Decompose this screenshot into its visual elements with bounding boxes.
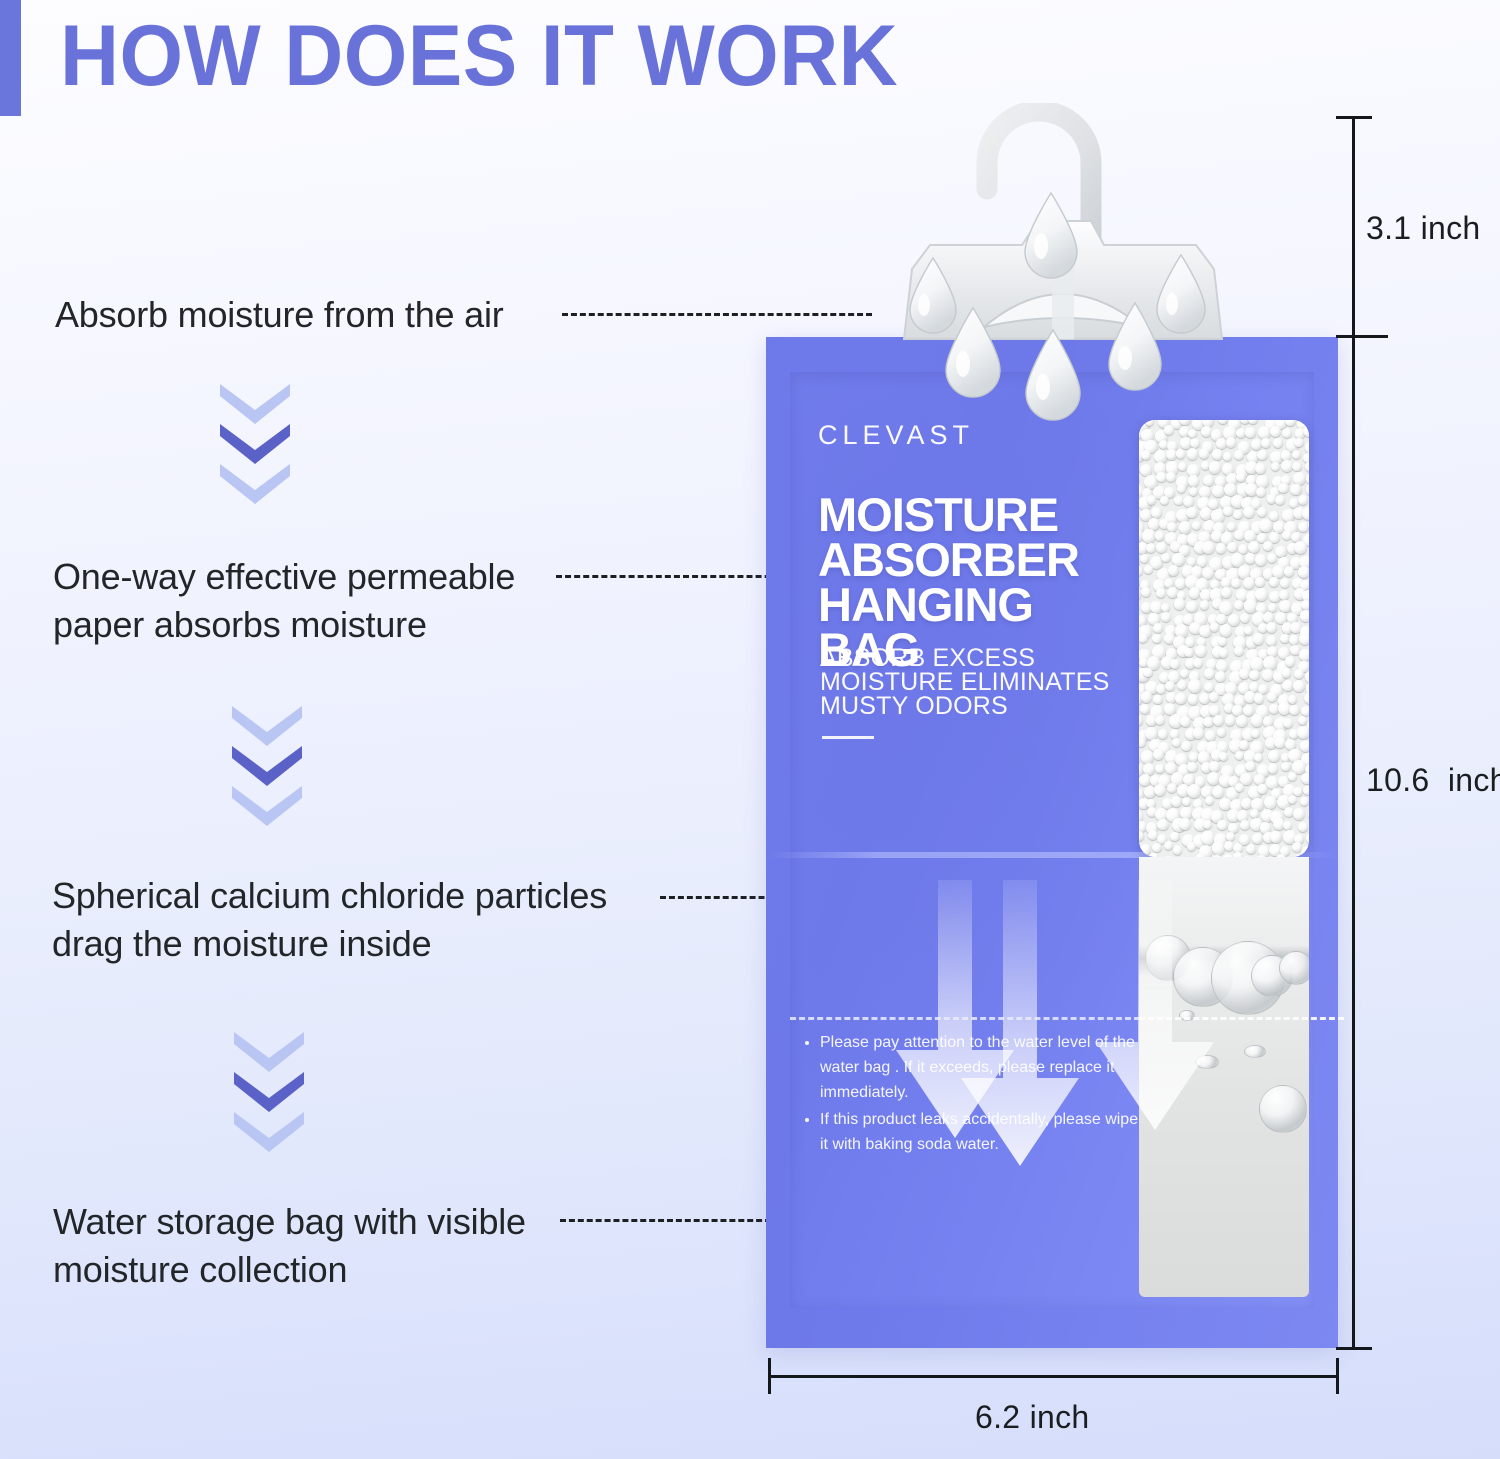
warning-bullet: Please pay attention to the water level … <box>820 1030 1140 1105</box>
chevron-group-1 <box>216 380 294 508</box>
package-divider-rule <box>822 736 874 739</box>
calcium-chloride-particles-window <box>1139 420 1309 857</box>
dimension-label-bag-height: 10.6 inch <box>1366 762 1500 799</box>
water-droplet-icon <box>940 305 1006 401</box>
dimension-label-bag-width: 6.2 inch <box>975 1399 1089 1436</box>
water-droplet-icon <box>1103 300 1167 394</box>
particle-beads <box>1139 420 1309 857</box>
chevron-down-icon <box>230 1108 308 1154</box>
dimension-tick-top <box>1336 116 1372 119</box>
dimension-label-hanger-height: 3.1 inch <box>1366 210 1480 247</box>
chevron-down-icon <box>216 460 294 506</box>
package-subhead: ABSORB EXCESS MOISTURE ELIMINATES MUSTY … <box>820 646 1120 718</box>
bubble <box>1244 1045 1266 1058</box>
bubble <box>1279 951 1309 985</box>
max-fill-line-left <box>790 1017 1140 1020</box>
dimension-line-bag-height <box>1352 338 1355 1350</box>
feature-label-absorb-air: Absorb moisture from the air <box>55 291 504 339</box>
package-warning-bullets: Please pay attention to the water level … <box>798 1030 1140 1159</box>
chevron-group-2 <box>228 702 306 830</box>
dimension-tick-bottom <box>1336 1347 1372 1350</box>
leader-line-absorb-air <box>562 313 872 316</box>
feature-label-water-bag: Water storage bag with visible moisture … <box>53 1198 526 1294</box>
chevron-group-3 <box>230 1028 308 1156</box>
dimension-line-hanger-height <box>1352 116 1355 338</box>
warning-bullet: If this product leaks accidentally, plea… <box>820 1107 1140 1157</box>
page-title: HOW DOES IT WORK <box>60 8 898 104</box>
chevron-down-icon <box>228 782 306 828</box>
title-accent-bar <box>0 0 21 116</box>
dimension-tick-right <box>1336 1358 1339 1394</box>
max-fill-line <box>1139 1017 1344 1020</box>
feature-label-permeable: One-way effective permeable paper absorb… <box>53 553 515 649</box>
brand-logo: CLEVAST <box>818 420 974 451</box>
infographic-canvas: HOW DOES IT WORK Absorb moisture from th… <box>0 0 1500 1459</box>
dimension-tick-left <box>768 1358 771 1394</box>
bubble <box>1259 1085 1307 1133</box>
water-droplet-icon <box>1019 190 1083 282</box>
feature-label-particles: Spherical calcium chloride particles dra… <box>52 872 607 968</box>
water-droplet-icon <box>1020 327 1086 425</box>
dimension-line-bag-width <box>768 1375 1338 1378</box>
dimension-tick-mid <box>1336 335 1388 338</box>
